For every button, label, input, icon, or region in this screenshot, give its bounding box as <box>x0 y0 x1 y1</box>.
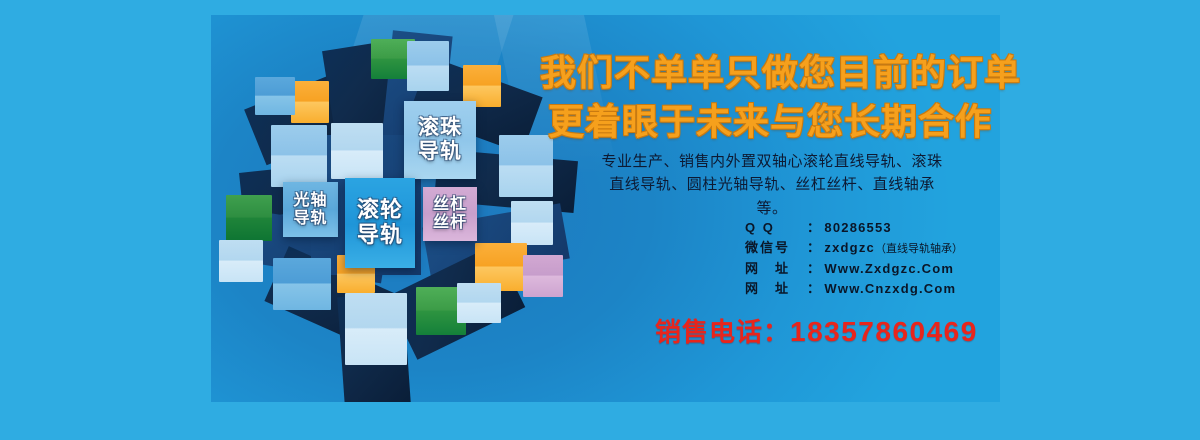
website-1-colon: ： <box>807 259 820 279</box>
wechat-note: （直线导轨轴承） <box>875 239 963 259</box>
qq-colon: ： <box>807 218 820 238</box>
cube-face <box>219 240 263 282</box>
product-box-guangzhou-daogui: 光轴 导轨 <box>283 182 338 237</box>
product-box-line2: 导轨 <box>357 223 403 248</box>
cube-face <box>331 123 383 179</box>
headline-line-1: 我们不单单只做您目前的订单 <box>540 44 1000 96</box>
qq-label: Q Q <box>745 218 807 238</box>
contact-row-website-1: 网 址 ： Www.Zxdgzc.Com <box>745 259 963 279</box>
product-box-line1: 丝杠 <box>433 196 467 214</box>
wechat-label: 微信号 <box>745 238 807 258</box>
cube-face <box>273 258 331 310</box>
contact-block: Q Q ： 80286553 微信号 ： zxdgzc （直线导轨轴承） 网 址… <box>745 218 963 299</box>
cube-cluster-graphic: 滚珠 导轨 光轴 导轨 丝杠 丝杆 滚轮 导轨 <box>211 15 571 402</box>
product-box-line2: 导轨 <box>418 140 462 164</box>
website-1-value[interactable]: Www.Zxdgzc.Com <box>824 259 954 279</box>
cube-face <box>407 41 449 91</box>
contact-row-qq: Q Q ： 80286553 <box>745 218 963 238</box>
cube-face <box>345 293 407 365</box>
product-box-gunzhu-daogui: 滚珠 导轨 <box>404 101 476 179</box>
cube-face <box>271 125 327 187</box>
promo-banner: 滚珠 导轨 光轴 导轨 丝杠 丝杆 滚轮 导轨 我们不单单只做您目前的订单 更着… <box>0 0 1200 440</box>
website-2-value[interactable]: Www.Cnzxdg.Com <box>824 279 956 299</box>
sales-phone-label: 销售电话： <box>655 317 790 347</box>
cube-face <box>457 283 501 323</box>
product-box-line1: 光轴 <box>293 192 327 210</box>
product-box-line2: 导轨 <box>293 210 327 228</box>
cube-face <box>291 81 329 123</box>
wechat-colon: ： <box>807 238 820 258</box>
wechat-value[interactable]: zxdgzc <box>824 238 875 258</box>
website-1-label: 网 址 <box>745 259 807 279</box>
sales-phone-block: 销售电话：18357860469 <box>655 312 978 349</box>
product-box-gunlun-daogui: 滚轮 导轨 <box>345 178 415 268</box>
product-box-line1: 滚珠 <box>418 116 462 140</box>
sales-phone-number[interactable]: 18357860469 <box>790 316 978 347</box>
website-2-colon: ： <box>807 279 820 299</box>
contact-row-wechat: 微信号 ： zxdgzc （直线导轨轴承） <box>745 238 963 259</box>
banner-content: 我们不单单只做您目前的订单 更着眼于未来与您长期合作 专业生产、销售内外置双轴心… <box>540 0 1000 440</box>
company-description: 专业生产、销售内外置双轴心滚轮直线导轨、滚珠直线导轨、圆柱光轴导轨、丝杠丝杆、直… <box>598 150 946 220</box>
product-box-line2: 丝杆 <box>433 214 467 232</box>
headline-line-2: 更着眼于未来与您长期合作 <box>540 93 1000 145</box>
qq-value[interactable]: 80286553 <box>824 218 891 238</box>
website-2-label: 网 址 <box>745 279 807 299</box>
product-box-line1: 滚轮 <box>357 198 403 223</box>
cube-face <box>226 195 272 241</box>
cube-face <box>255 77 295 115</box>
product-box-sigang-sigan: 丝杠 丝杆 <box>423 187 477 241</box>
contact-row-website-2: 网 址 ： Www.Cnzxdg.Com <box>745 279 963 299</box>
